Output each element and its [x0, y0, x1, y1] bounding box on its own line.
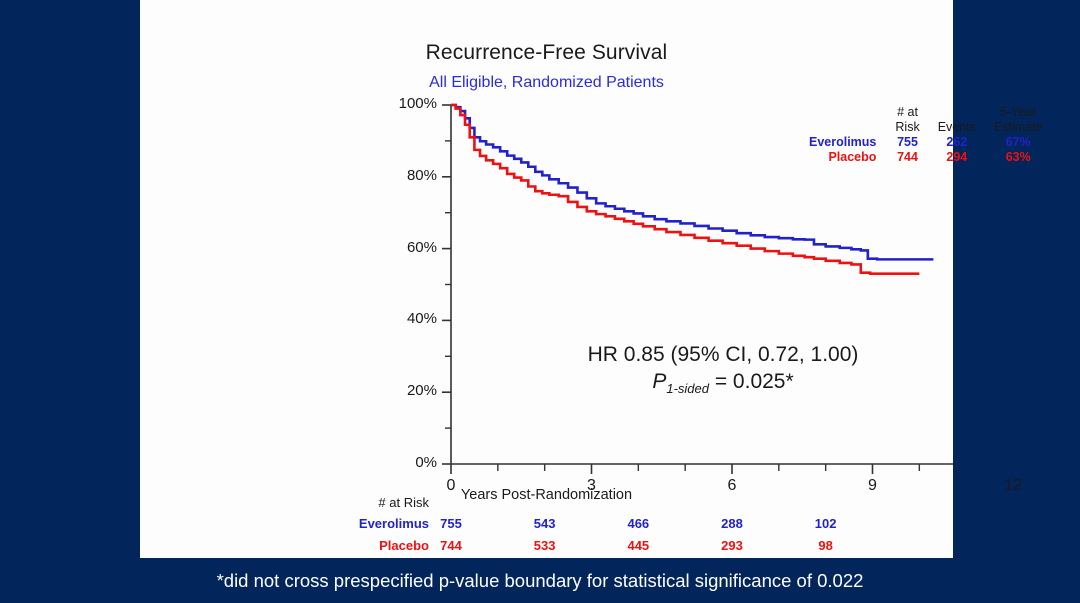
x-axis-title: Years Post-Randomization [140, 487, 953, 503]
p-symbol: P [652, 370, 666, 393]
y-axis-tick-label: 20% [381, 382, 437, 399]
at-risk-value: 293 [709, 538, 755, 553]
at-risk-value: 744 [428, 538, 474, 553]
p-value-number: = 0.025* [709, 370, 794, 393]
legend-five-year: 67% [985, 135, 1052, 150]
legend-events: 262 [929, 135, 985, 150]
p-subscript: 1-sided [666, 381, 709, 396]
slide: Recurrence-Free Survival All Eligible, R… [0, 0, 1080, 603]
at-risk-value: 288 [709, 516, 755, 531]
p-value-text: P1-sided = 0.025* [493, 368, 953, 403]
x-axis-minor-ticks [498, 464, 953, 471]
legend-header-5year-line2: Estimate [994, 120, 1043, 134]
legend-header-events: Events [929, 105, 985, 135]
legend-table: # at Risk Events 5-Year Estimate Everoli… [800, 105, 1052, 165]
at-risk-value: 466 [615, 516, 661, 531]
kaplan-meier-plot [140, 0, 953, 558]
legend-five-year: 63% [985, 150, 1052, 165]
x-axis-tick-label: 12 [993, 477, 1033, 495]
at-risk-value: 755 [428, 516, 474, 531]
chart-panel: Recurrence-Free Survival All Eligible, R… [140, 0, 953, 558]
at-risk-value: 98 [803, 538, 849, 553]
y-axis-tick-label: 60% [381, 239, 437, 256]
at-risk-group-label: Placebo [299, 538, 429, 553]
hazard-ratio-text: HR 0.85 (95% CI, 0.72, 1.00) [493, 341, 953, 368]
y-axis-tick-label: 0% [381, 454, 437, 471]
legend-events: 294 [929, 150, 985, 165]
legend-row: Placebo74429463% [800, 150, 1052, 165]
at-risk-value: 102 [803, 516, 849, 531]
footnote-caption: *did not cross prespecified p-value boun… [0, 558, 1080, 603]
y-axis-minor-ticks [445, 141, 451, 428]
at-risk-value: 533 [522, 538, 568, 553]
at-risk-group-label: Everolimus [299, 516, 429, 531]
statistics-annotation: HR 0.85 (95% CI, 0.72, 1.00) P1-sided = … [493, 341, 953, 403]
legend-header-at-risk: # at Risk [886, 105, 928, 135]
legend-at-risk: 755 [886, 135, 928, 150]
legend-group-name: Placebo [800, 150, 886, 165]
legend-header-5year-line1: 5-Year [1000, 105, 1036, 119]
y-axis-tick-label: 40% [381, 310, 437, 327]
legend-row: Everolimus75526267% [800, 135, 1052, 150]
legend-header-blank [800, 105, 886, 135]
legend-header-5year: 5-Year Estimate [985, 105, 1052, 135]
y-axis-tick-label: 100% [381, 95, 437, 112]
at-risk-title: # at Risk [299, 495, 429, 510]
legend-at-risk: 744 [886, 150, 928, 165]
x-axis-major-ticks [451, 464, 953, 474]
at-risk-value: 445 [615, 538, 661, 553]
legend-group-name: Everolimus [800, 135, 886, 150]
at-risk-value: 543 [522, 516, 568, 531]
y-axis-tick-label: 80% [381, 167, 437, 184]
